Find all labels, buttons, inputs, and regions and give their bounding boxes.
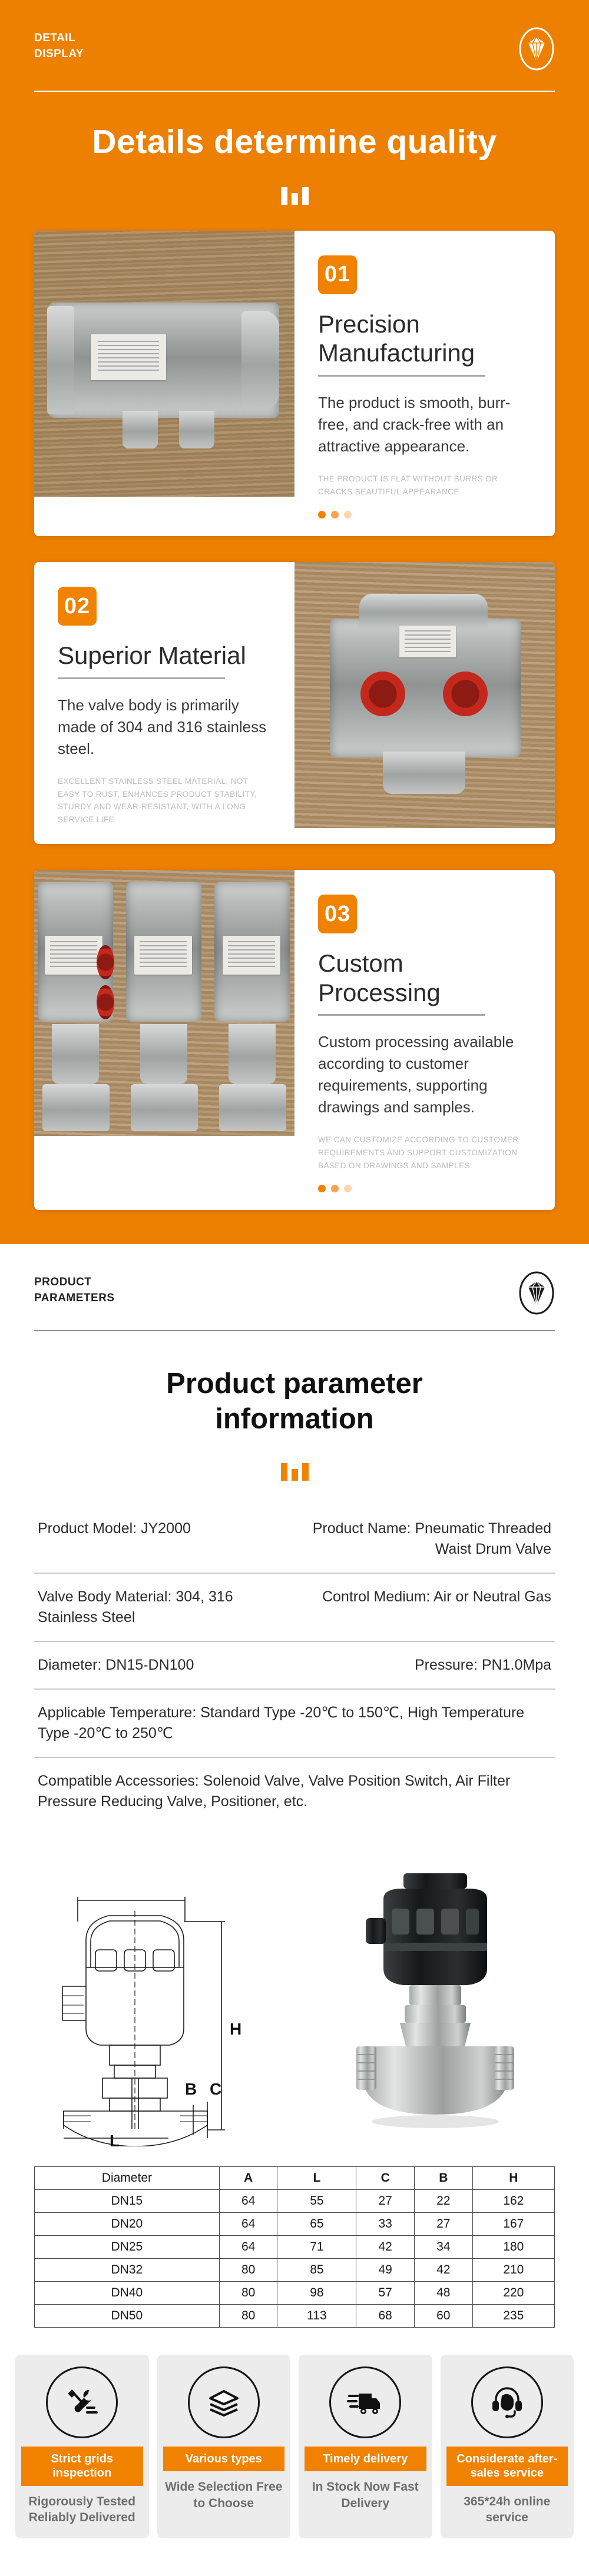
service-badges: Strict grids inspection Rigorously Teste… — [15, 2355, 574, 2538]
cell-c: 57 — [356, 2281, 415, 2304]
layers-stack-icon — [188, 2366, 260, 2438]
dim-label-l: L — [110, 2132, 120, 2146]
cell-c: 33 — [356, 2212, 415, 2235]
cell-l: 71 — [277, 2235, 356, 2258]
detail-header-divider — [34, 91, 555, 92]
cell-diameter: DN40 — [35, 2281, 220, 2304]
cell-b: 48 — [414, 2281, 472, 2304]
cell-a: 80 — [219, 2281, 277, 2304]
service-badge-tag: Various types — [163, 2447, 285, 2471]
table-row: DN40 80 98 57 48 220 — [35, 2281, 555, 2304]
valve-product-photo — [310, 1852, 562, 2146]
spec-right: Product Name: Pneumatic Threaded Waist D… — [300, 1518, 551, 1560]
cell-diameter: DN32 — [35, 2258, 220, 2281]
dimension-col-header: H — [472, 2166, 554, 2189]
table-row: DN15 64 55 27 22 162 — [35, 2189, 555, 2212]
cell-diameter: DN20 — [35, 2212, 220, 2235]
headset-support-icon — [471, 2366, 543, 2438]
cell-l: 85 — [277, 2258, 356, 2281]
service-badge-support[interactable]: Considerate after-sales service 365*24h … — [441, 2355, 574, 2538]
service-badge-subtext: 365*24h online service — [446, 2494, 568, 2526]
cell-l: 98 — [277, 2281, 356, 2304]
spec-row: Product Model: JY2000 Product Name: Pneu… — [34, 1505, 555, 1574]
spec-row: Valve Body Material: 304, 316 Stainless … — [34, 1574, 555, 1642]
dim-label-h: H — [230, 2020, 241, 2038]
parameters-section-header: PRODUCT PARAMETERS — [0, 1244, 589, 1307]
cell-l: 113 — [277, 2304, 356, 2327]
detail-main-title: Details determine quality — [0, 122, 589, 161]
spec-row: Applicable Temperature: Standard Type -2… — [34, 1690, 555, 1758]
feature-number-badge: 02 — [58, 587, 97, 626]
feature-caption: THE PRODUCT IS FLAT WITHOUT BURRS OR CRA… — [318, 473, 532, 498]
title-ornament — [0, 187, 589, 205]
feature-description: The product is smooth, burr-free, and cr… — [318, 392, 532, 457]
feature-dot-indicator — [318, 511, 532, 518]
feature-title: Precision Manufacturing — [318, 310, 532, 368]
cell-h: 167 — [472, 2212, 554, 2235]
spec-left: Diameter: DN15-DN100 — [38, 1655, 289, 1676]
service-badge-tag: Strict grids inspection — [21, 2447, 143, 2486]
specification-table: Product Model: JY2000 Product Name: Pneu… — [34, 1505, 555, 1825]
feature-caption: WE CAN CUSTOMIZE ACCORDING TO CUSTOMER R… — [318, 1134, 532, 1172]
cell-a: 64 — [219, 2235, 277, 2258]
spec-right: Pressure: PN1.0Mpa — [300, 1655, 551, 1676]
cell-h: 162 — [472, 2189, 554, 2212]
feature-title: Superior Material — [58, 641, 272, 670]
feature-photo-01 — [34, 231, 294, 497]
cell-c: 27 — [356, 2189, 415, 2212]
diamond-gem-icon — [518, 26, 555, 74]
feature-title-underline — [318, 1014, 485, 1016]
spec-right: Control Medium: Air or Neutral Gas — [300, 1587, 551, 1628]
cell-a: 64 — [219, 2189, 277, 2212]
feature-title-underline — [318, 375, 485, 377]
spec-row: Compatible Accessories: Solenoid Valve, … — [34, 1758, 555, 1825]
dimension-col-header: A — [219, 2166, 277, 2189]
feature-title: Custom Processing — [318, 949, 532, 1007]
table-row: DN32 80 85 49 42 210 — [35, 2258, 555, 2281]
service-badge-subtext: In Stock Now Fast Delivery — [305, 2479, 426, 2511]
feature-dot-indicator — [318, 1185, 532, 1192]
dim-label-c: C — [210, 2080, 221, 2098]
feature-description: Custom processing available according to… — [318, 1031, 532, 1118]
cell-l: 55 — [277, 2189, 356, 2212]
detail-eyebrow-line2: DISPLAY — [34, 46, 555, 62]
service-badge-delivery[interactable]: Timely delivery In Stock Now Fast Delive… — [299, 2355, 432, 2538]
table-row: DN50 80 113 68 60 235 — [35, 2304, 555, 2327]
feature-card-03[interactable]: 03 Custom Processing Custom processing a… — [34, 870, 555, 1210]
cell-diameter: DN25 — [35, 2235, 220, 2258]
detail-eyebrow: DETAIL DISPLAY — [34, 31, 555, 62]
cell-a: 64 — [219, 2212, 277, 2235]
technical-drawing-area: H B C L — [27, 1852, 562, 2146]
cell-h: 235 — [472, 2304, 554, 2327]
cell-l: 65 — [277, 2212, 356, 2235]
parameters-title-ornament — [0, 1463, 589, 1481]
feature-photo-03 — [34, 870, 294, 1136]
service-badge-tag: Considerate after-sales service — [446, 2447, 568, 2486]
cell-b: 34 — [414, 2235, 472, 2258]
dimension-table: Diameter A L C B H DN15 64 55 27 22 162 … — [34, 2166, 555, 2328]
table-row: DN25 64 71 42 34 180 — [35, 2235, 555, 2258]
feature-body-01: 01 Precision Manufacturing The product i… — [294, 231, 555, 537]
parameters-header-divider — [34, 1330, 555, 1331]
spec-left: Applicable Temperature: Standard Type -2… — [38, 1703, 551, 1744]
service-badge-subtext: Rigorously Tested Reliably Delivered — [21, 2494, 143, 2526]
product-parameters-section: PRODUCT PARAMETERS Product parameter inf… — [0, 1244, 589, 2576]
parameters-title-line1: Product parameter — [53, 1367, 536, 1402]
detail-section-header: DETAIL DISPLAY — [0, 0, 589, 62]
dimension-col-header: Diameter — [35, 2166, 220, 2189]
wrench-screwdriver-icon — [46, 2366, 118, 2438]
feature-number-badge: 01 — [318, 255, 357, 294]
cell-h: 210 — [472, 2258, 554, 2281]
table-row: DN20 64 65 33 27 167 — [35, 2212, 555, 2235]
feature-number-badge: 03 — [318, 895, 357, 933]
cell-b: 60 — [414, 2304, 472, 2327]
cell-c: 68 — [356, 2304, 415, 2327]
diamond-gem-icon — [518, 1271, 555, 1318]
spec-left: Compatible Accessories: Solenoid Valve, … — [38, 1771, 551, 1812]
spec-left: Valve Body Material: 304, 316 Stainless … — [38, 1587, 289, 1628]
feature-caption: EXCELLENT STAINLESS STEEL MATERIAL, NOT … — [58, 775, 272, 826]
cell-b: 22 — [414, 2189, 472, 2212]
dimension-col-header: C — [356, 2166, 415, 2189]
cell-diameter: DN15 — [35, 2189, 220, 2212]
cell-a: 80 — [219, 2258, 277, 2281]
feature-body-02: 02 Superior Material The valve body is p… — [34, 562, 294, 844]
cell-b: 42 — [414, 2258, 472, 2281]
cell-b: 27 — [414, 2212, 472, 2235]
cell-diameter: DN50 — [35, 2304, 220, 2327]
detail-eyebrow-line1: DETAIL — [34, 31, 555, 46]
feature-card-01[interactable]: 01 Precision Manufacturing The product i… — [34, 231, 555, 537]
detail-display-section: DETAIL DISPLAY Details determine quality — [0, 0, 589, 1244]
feature-description: The valve body is primarily made of 304 … — [58, 694, 272, 760]
spec-row: Diameter: DN15-DN100 Pressure: PN1.0Mpa — [34, 1642, 555, 1690]
feature-body-03: 03 Custom Processing Custom processing a… — [294, 870, 555, 1210]
cell-h: 220 — [472, 2281, 554, 2304]
dimension-table-header-row: Diameter A L C B H — [35, 2166, 555, 2189]
dimension-col-header: L — [277, 2166, 356, 2189]
parameters-title-line2: information — [53, 1402, 536, 1437]
parameters-eyebrow-line2: PARAMETERS — [34, 1291, 555, 1307]
spec-left: Product Model: JY2000 — [38, 1518, 289, 1560]
cell-c: 42 — [356, 2235, 415, 2258]
feature-card-02[interactable]: 02 Superior Material The valve body is p… — [34, 562, 555, 844]
service-badge-inspection[interactable]: Strict grids inspection Rigorously Teste… — [15, 2355, 149, 2538]
parameters-main-title: Product parameter information — [0, 1367, 589, 1437]
parameters-eyebrow: PRODUCT PARAMETERS — [34, 1275, 555, 1307]
delivery-truck-icon — [329, 2366, 401, 2438]
cell-h: 180 — [472, 2235, 554, 2258]
dimension-col-header: B — [414, 2166, 472, 2189]
cell-a: 80 — [219, 2304, 277, 2327]
feature-title-underline — [58, 677, 225, 679]
dim-label-b: B — [185, 2080, 197, 2098]
service-badge-subtext: Wide Selection Free to Choose — [163, 2479, 285, 2511]
cell-c: 49 — [356, 2258, 415, 2281]
feature-photo-02 — [294, 562, 555, 828]
service-badge-tag: Timely delivery — [305, 2447, 426, 2471]
service-badge-types[interactable]: Various types Wide Selection Free to Cho… — [157, 2355, 291, 2538]
parameters-eyebrow-line1: PRODUCT — [34, 1275, 555, 1291]
valve-line-drawing: H B C L — [27, 1852, 304, 2146]
